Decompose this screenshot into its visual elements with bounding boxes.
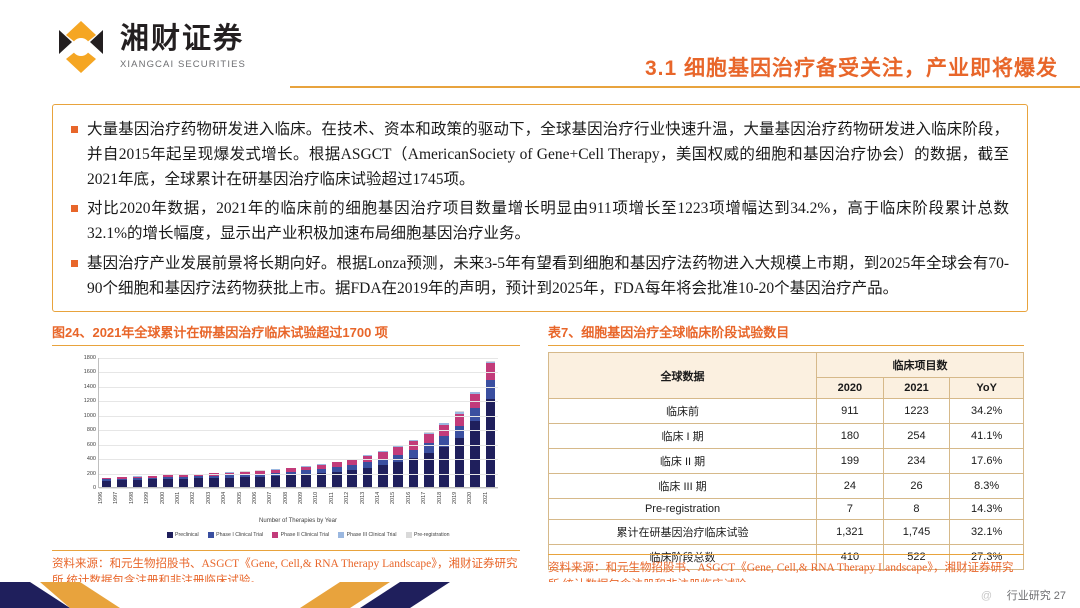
brand-name-cn: 湘财证券 (120, 24, 246, 56)
section-title: 3.1 细胞基因治疗备受关注，产业即将爆发 (645, 52, 1058, 82)
chart-x-axis-title: Number of Therapies by Year (98, 518, 498, 524)
chart-y-tick: 1600 (84, 369, 96, 375)
chart-legend-swatch (167, 532, 173, 538)
chart-bar-segment (486, 380, 496, 398)
cell-2020: 911 (817, 399, 884, 424)
cell-2020: 199 (817, 449, 884, 474)
figure-caption: 图24、2021年全球累计在研基因治疗临床试验超过1700 项 (52, 322, 388, 341)
cell-2020: 24 (817, 474, 884, 499)
chart-bars (99, 358, 498, 487)
chart-bar (283, 358, 298, 487)
chart-bar-segment (301, 474, 311, 487)
chart-bar (206, 358, 221, 487)
chart-x-tick: 1997 (113, 492, 128, 514)
table-source-rule (548, 554, 1024, 555)
chart-gridline (99, 372, 498, 373)
cell-yoy: 17.6% (950, 449, 1024, 474)
chart-bar-segment (225, 478, 235, 487)
cell-2021: 26 (883, 474, 950, 499)
chart-x-tick: 2012 (344, 492, 359, 514)
chart-gridline (99, 416, 498, 417)
chart-bar (145, 358, 160, 487)
chart-bar-segment (286, 475, 296, 487)
chart-legend-item: Phase I Clinical Trial (208, 532, 264, 538)
chart-gridline (99, 488, 498, 489)
chart-x-tick: 1998 (129, 492, 144, 514)
chart-x-axis-labels: 1996199719981999200020012002200320042005… (98, 492, 498, 514)
table-caption: 表7、细胞基因治疗全球临床阶段试验数目 (548, 322, 789, 341)
bullet-text: 基因治疗产业发展前景将长期向好。根据Lonza预测，未来3-5年有望看到细胞和基… (87, 251, 1009, 301)
chart-bar-segment (378, 465, 388, 487)
chart-bar-segment (439, 447, 449, 487)
cell-2021: 8 (883, 499, 950, 520)
chart-legend-label: Preclinical (175, 532, 199, 538)
chart-x-tick: 2008 (283, 492, 298, 514)
chart-legend-swatch (338, 532, 344, 538)
summary-box: 大量基因治疗药物研发进入临床。在技术、资本和政策的驱动下，全球基因治疗行业快速升… (52, 104, 1028, 312)
chart-bar (345, 358, 360, 487)
title-divider (290, 86, 1080, 88)
figure-caption-rule (52, 345, 520, 346)
chart-bar (329, 358, 344, 487)
table-row: 临床 II 期19923417.6% (549, 449, 1024, 474)
chart-bar-segment (393, 447, 403, 454)
brand-logo: 湘财证券 XIANGCAI SECURITIES (52, 18, 246, 76)
chart-x-tick: 1999 (144, 492, 159, 514)
chart-y-tick: 1000 (84, 413, 96, 419)
chart-bar (222, 358, 237, 487)
chart-x-tick: 2020 (467, 492, 482, 514)
chart-legend-swatch (406, 532, 412, 538)
chart-x-tick: 2005 (237, 492, 252, 514)
chart-x-tick: 2014 (375, 492, 390, 514)
chart-bar (483, 358, 498, 487)
cell-2020: 7 (817, 499, 884, 520)
chart-bar-segment (179, 479, 189, 487)
chart-x-tick: 2010 (313, 492, 328, 514)
page-number: 行业研究 27 (1007, 587, 1066, 603)
chart-bar-segment (133, 480, 143, 487)
chart-bar (176, 358, 191, 487)
chart-gridline (99, 459, 498, 460)
chart-gridline (99, 401, 498, 402)
page-header: 湘财证券 XIANGCAI SECURITIES 3.1 细胞基因治疗备受关注，… (0, 0, 1080, 92)
chart-bar (99, 358, 114, 487)
chart-x-tick: 2018 (437, 492, 452, 514)
table-col-2020: 2020 (817, 378, 884, 399)
chart-x-tick: 2004 (221, 492, 236, 514)
chart-legend-item: Preclinical (167, 532, 199, 538)
chart-x-tick: 2000 (160, 492, 175, 514)
chart-bar-segment (117, 480, 127, 487)
chart-bar (314, 358, 329, 487)
bullet-item: 大量基因治疗药物研发进入临床。在技术、资本和政策的驱动下，全球基因治疗行业快速升… (71, 117, 1009, 192)
cell-yoy: 32.1% (950, 520, 1024, 545)
chart-bar (130, 358, 145, 487)
cell-yoy: 41.1% (950, 424, 1024, 449)
chart-bar (375, 358, 390, 487)
chart-bar-segment (363, 468, 373, 487)
chart-bar-segment (455, 426, 465, 438)
bullet-square-icon (71, 126, 78, 133)
chart-bar (268, 358, 283, 487)
row-label: 累计在研基因治疗临床试验 (549, 520, 817, 545)
chart-x-tick: 2017 (421, 492, 436, 514)
cell-yoy: 14.3% (950, 499, 1024, 520)
chart-bar (437, 358, 452, 487)
chart-bar (360, 358, 375, 487)
stacked-bar-chart: 020040060080010001200140016001800 199619… (52, 352, 520, 542)
chart-bar-segment (163, 479, 173, 487)
bullet-item: 基因治疗产业发展前景将长期向好。根据Lonza预测，未来3-5年有望看到细胞和基… (71, 251, 1009, 301)
chart-gridline (99, 445, 498, 446)
chart-plot-area: 020040060080010001200140016001800 (98, 358, 498, 488)
table-header-group: 临床项目数 (817, 353, 1024, 378)
chart-x-tick: 2015 (390, 492, 405, 514)
chart-gridline (99, 430, 498, 431)
row-label: Pre-registration (549, 499, 817, 520)
chart-bar (452, 358, 467, 487)
chart-bar (160, 358, 175, 487)
watermark: @ (981, 590, 992, 602)
chart-legend-item: Phase III Clinical Trial (338, 532, 396, 538)
table-body: 临床前911122334.2%临床 I 期18025441.1%临床 II 期1… (549, 399, 1024, 570)
page-footer: @ 行业研究 27 (0, 582, 1080, 608)
cell-2021: 1223 (883, 399, 950, 424)
chart-legend-swatch (272, 532, 278, 538)
bullet-square-icon (71, 260, 78, 267)
row-label: 临床 III 期 (549, 474, 817, 499)
chart-bar-segment (424, 434, 434, 444)
bullet-text: 大量基因治疗药物研发进入临床。在技术、资本和政策的驱动下，全球基因治疗行业快速升… (87, 117, 1009, 192)
chart-bar (252, 358, 267, 487)
chart-gridline (99, 358, 498, 359)
chart-legend-label: Phase I Clinical Trial (216, 532, 263, 538)
chart-x-tick: 2016 (406, 492, 421, 514)
chart-x-tick: 2011 (329, 492, 344, 514)
chart-bar-segment (209, 478, 219, 487)
chart-x-tick: 2019 (452, 492, 467, 514)
chart-bar (406, 358, 421, 487)
bullet-square-icon (71, 205, 78, 212)
chart-bar-segment (470, 408, 480, 421)
chart-y-tick: 0 (93, 485, 96, 491)
chart-y-tick: 1400 (84, 384, 96, 390)
cell-2021: 1,745 (883, 520, 950, 545)
chart-bar-segment (255, 477, 265, 487)
chart-gridline (99, 387, 498, 388)
chart-x-tick: 2003 (206, 492, 221, 514)
chart-bar-segment (317, 473, 327, 487)
chart-bar (237, 358, 252, 487)
chart-bar (298, 358, 313, 487)
chart-x-tick: 2013 (360, 492, 375, 514)
chart-y-tick: 200 (87, 471, 96, 477)
chart-x-tick: 2006 (252, 492, 267, 514)
chart-gridline (99, 474, 498, 475)
chart-bar (191, 358, 206, 487)
table-caption-rule (548, 345, 1024, 346)
row-label: 临床 II 期 (549, 449, 817, 474)
cell-2021: 234 (883, 449, 950, 474)
table-col-yoy: YoY (950, 378, 1024, 399)
row-label: 临床前 (549, 399, 817, 424)
bullet-item: 对比2020年数据，2021年的临床前的细胞基因治疗项目数量增长明显由911项增… (71, 196, 1009, 246)
chart-legend-item: Phase II Clinical Trial (272, 532, 329, 538)
table-header-left: 全球数据 (549, 353, 817, 399)
table-row: Pre-registration7814.3% (549, 499, 1024, 520)
chart-bar (467, 358, 482, 487)
brand-name-en: XIANGCAI SECURITIES (120, 59, 246, 70)
chart-y-tick: 400 (87, 456, 96, 462)
row-label: 临床 I 期 (549, 424, 817, 449)
chart-bar-segment (409, 450, 419, 459)
chart-legend-label: Pre-registration (414, 532, 449, 538)
chart-legend: PreclinicalPhase I Clinical TrialPhase I… (98, 532, 518, 538)
cell-2020: 180 (817, 424, 884, 449)
chart-y-tick: 1200 (84, 398, 96, 404)
chart-x-tick: 2009 (298, 492, 313, 514)
chart-y-tick: 600 (87, 442, 96, 448)
chart-y-tick: 1800 (84, 355, 96, 361)
clinical-stage-table: 全球数据 临床项目数 2020 2021 YoY 临床前911122334.2%… (548, 352, 1024, 570)
table-row: 临床 III 期24268.3% (549, 474, 1024, 499)
table-row: 累计在研基因治疗临床试验1,3211,74532.1% (549, 520, 1024, 545)
cell-yoy: 34.2% (950, 399, 1024, 424)
table-row: 临床前911122334.2% (549, 399, 1024, 424)
chart-bar-segment (271, 476, 281, 487)
chart-bar-segment (240, 477, 250, 487)
table-row: 临床 I 期18025441.1% (549, 424, 1024, 449)
chart-x-tick: 2002 (190, 492, 205, 514)
cell-yoy: 8.3% (950, 474, 1024, 499)
chart-bar (114, 358, 129, 487)
chart-bar-segment (393, 462, 403, 487)
chart-legend-swatch (208, 532, 214, 538)
chart-legend-label: Phase II Clinical Trial (281, 532, 329, 538)
figure-source-rule (52, 550, 520, 551)
chart-bar (421, 358, 436, 487)
chart-x-tick: 2021 (483, 492, 498, 514)
chart-legend-label: Phase III Clinical Trial (347, 532, 397, 538)
chart-x-tick: 2007 (267, 492, 282, 514)
chart-legend-item: Pre-registration (406, 532, 450, 538)
chart-bar-segment (194, 478, 204, 487)
cell-2020: 1,321 (817, 520, 884, 545)
chart-bar-segment (148, 479, 158, 487)
chart-y-tick: 800 (87, 427, 96, 433)
chart-x-tick: 2001 (175, 492, 190, 514)
logo-mark-icon (52, 18, 110, 76)
chart-bar (391, 358, 406, 487)
chart-x-tick: 1996 (98, 492, 113, 514)
cell-2021: 254 (883, 424, 950, 449)
bullet-text: 对比2020年数据，2021年的临床前的细胞基因治疗项目数量增长明显由911项增… (87, 196, 1009, 246)
table-col-2021: 2021 (883, 378, 950, 399)
chart-bar-segment (102, 481, 112, 488)
